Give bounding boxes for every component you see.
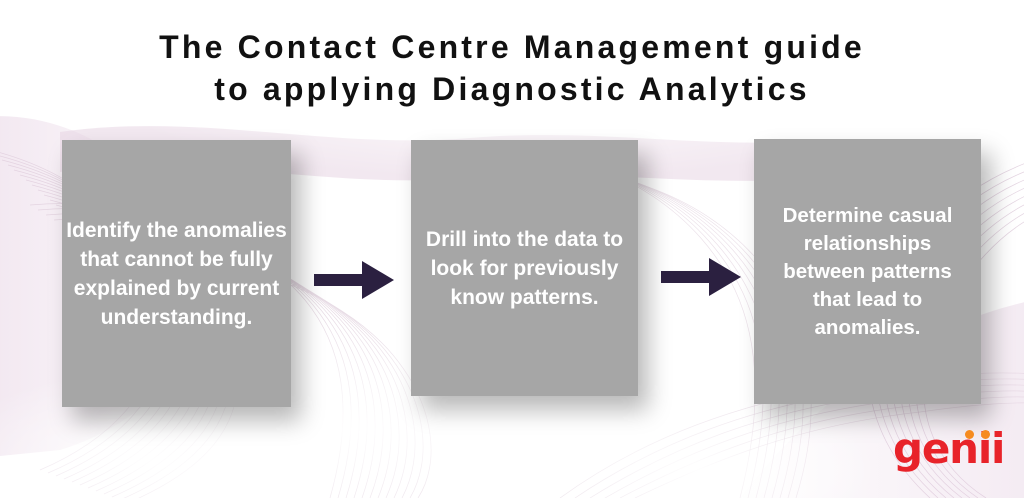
infographic-canvas: The Contact Centre Management guide to a… bbox=[0, 0, 1024, 498]
step-3-text: Determine casual relationships between p… bbox=[754, 202, 981, 342]
arrow-right-icon-1 bbox=[314, 258, 396, 307]
step-2-text: Drill into the data to look for previous… bbox=[411, 225, 638, 312]
genii-logo-dot-2 bbox=[981, 430, 990, 439]
arrow-right-icon-2 bbox=[661, 255, 743, 304]
page-title: The Contact Centre Management guide to a… bbox=[0, 26, 1024, 110]
step-box-3: Determine casual relationships between p… bbox=[754, 139, 981, 404]
step-box-1: Identify the anomalies that cannot be fu… bbox=[62, 140, 291, 407]
step-box-2: Drill into the data to look for previous… bbox=[411, 140, 638, 396]
page-title-line-1: The Contact Centre Management guide bbox=[0, 26, 1024, 68]
genii-logo-dot-1 bbox=[965, 430, 974, 439]
page-title-line-2: to applying Diagnostic Analytics bbox=[0, 68, 1024, 110]
step-1-text: Identify the anomalies that cannot be fu… bbox=[62, 216, 291, 332]
genii-logo[interactable]: genii bbox=[893, 428, 1004, 470]
